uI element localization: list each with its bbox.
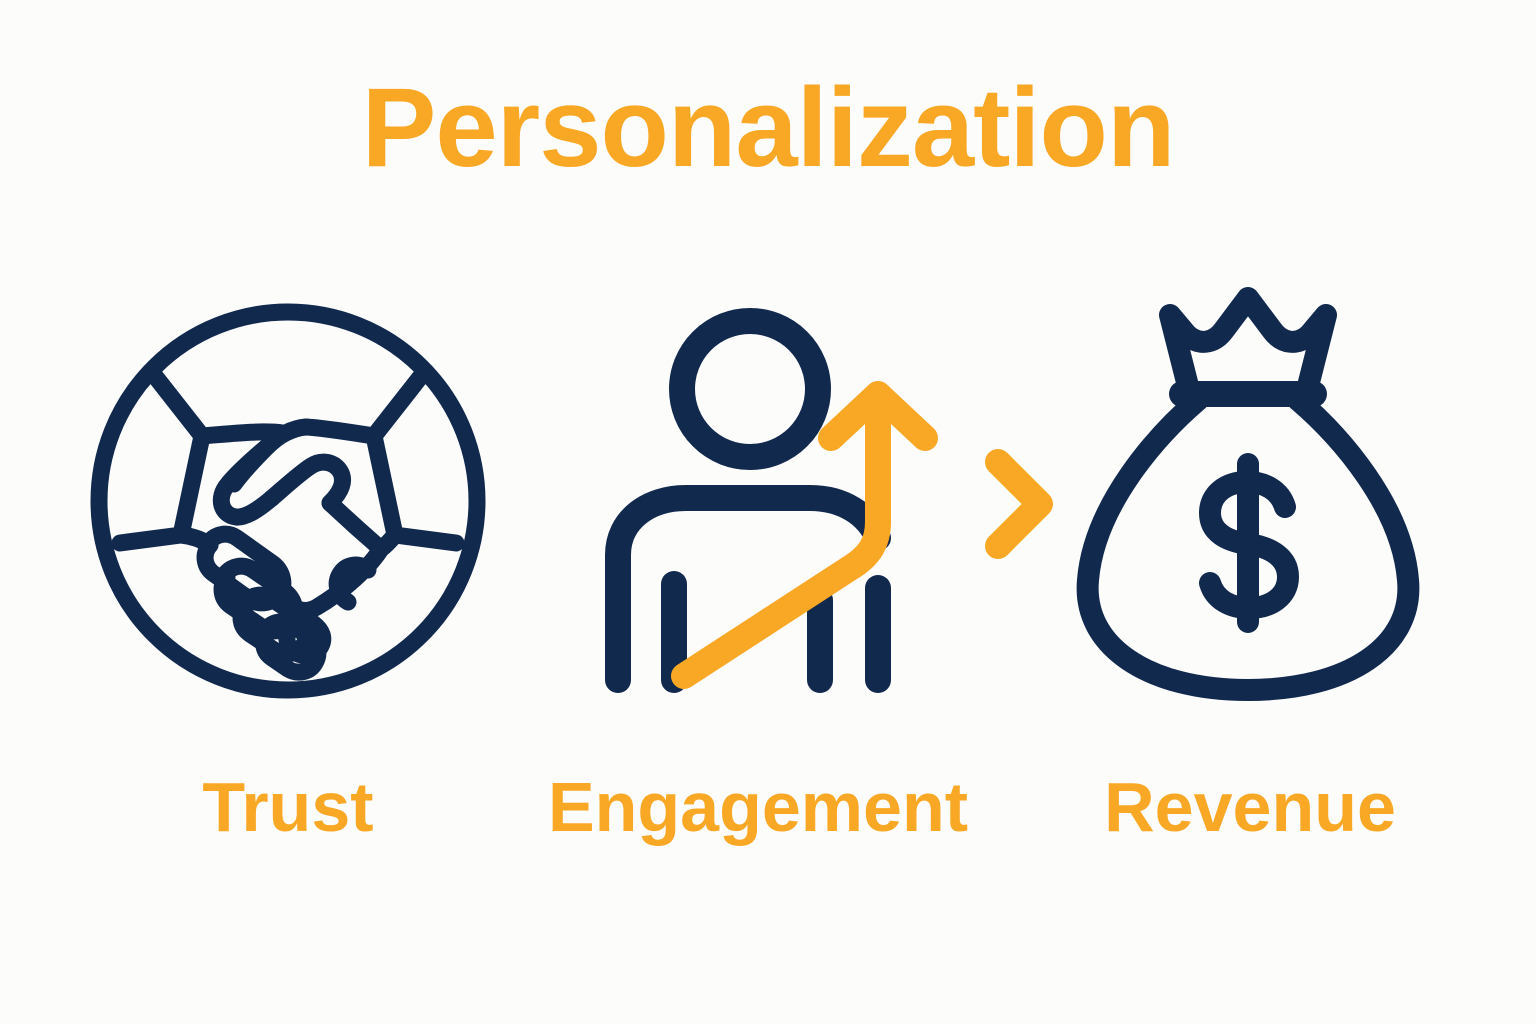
step-label-trust: Trust xyxy=(108,752,468,862)
revenue-icon-container xyxy=(1058,270,1438,710)
page-title: Personalization xyxy=(0,72,1536,184)
handshake-circle-icon xyxy=(78,270,498,710)
label-row: Trust Engagement Revenue xyxy=(0,752,1536,862)
step-label-revenue: Revenue xyxy=(1060,752,1440,862)
money-bag-dollar-icon xyxy=(1058,270,1438,710)
icon-row xyxy=(0,270,1536,710)
person-growth-arrow-icon xyxy=(588,270,948,710)
person-head-icon xyxy=(682,321,818,457)
infographic-canvas: Personalization xyxy=(0,0,1536,1024)
money-bag-top-icon xyxy=(1170,298,1326,394)
trust-icon-container xyxy=(78,270,498,710)
engagement-icon-container xyxy=(588,270,948,710)
step-label-engagement: Engagement xyxy=(508,752,1008,862)
dollar-sign-icon xyxy=(1210,464,1288,622)
